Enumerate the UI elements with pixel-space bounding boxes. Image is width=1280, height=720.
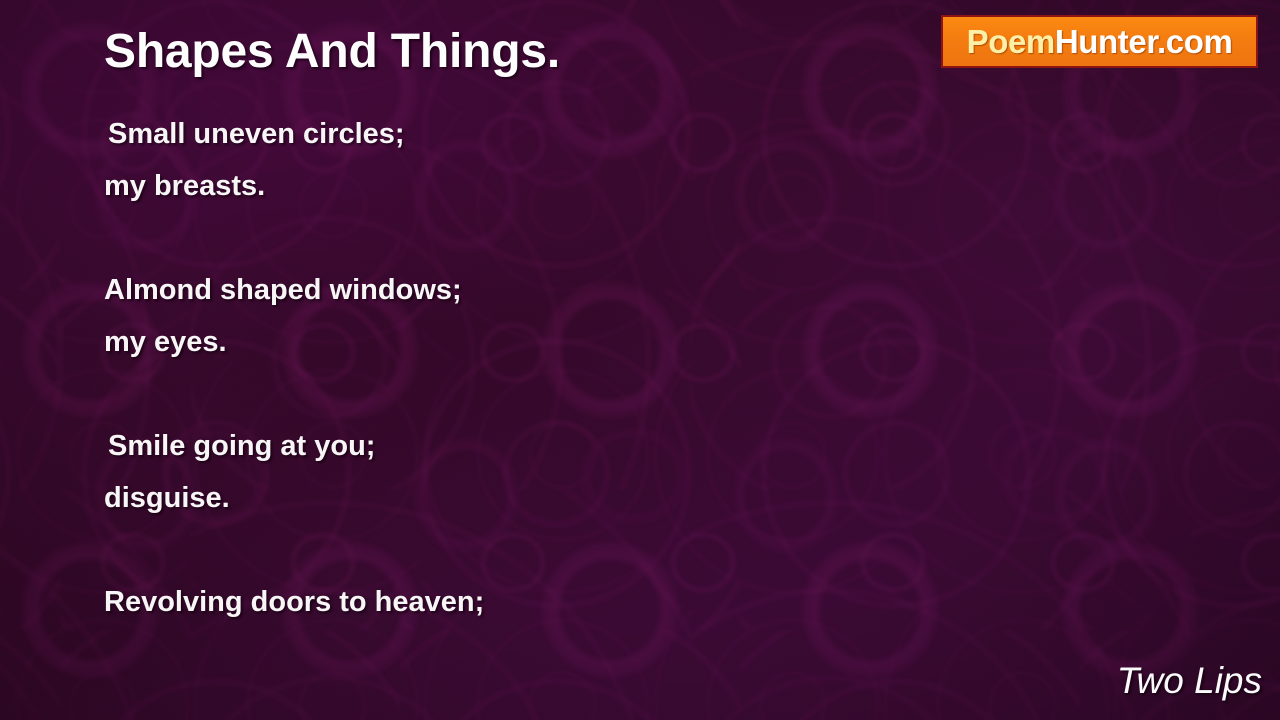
page-title: Shapes And Things. <box>104 24 560 79</box>
poem-body: Small uneven circles; my breasts. Almond… <box>104 108 904 628</box>
poem-line-blank <box>104 524 904 576</box>
poem-line: Revolving doors to heaven; <box>104 576 904 628</box>
poem-line-blank <box>104 212 904 264</box>
poem-line: disguise. <box>104 472 904 524</box>
poem-slide: Shapes And Things. Small uneven circles;… <box>0 0 1280 720</box>
poemhunter-logo[interactable]: PoemHunter.com <box>941 15 1258 68</box>
poem-line: my breasts. <box>104 160 904 212</box>
poem-line: Small uneven circles; <box>104 108 904 160</box>
poem-line: Almond shaped windows; <box>104 264 904 316</box>
logo-text-poem: Poem <box>967 23 1055 60</box>
poem-line: Smile going at you; <box>104 420 904 472</box>
poem-line-blank <box>104 368 904 420</box>
poem-line: my eyes. <box>104 316 904 368</box>
author-signature: Two Lips <box>1117 660 1262 702</box>
logo-text-hunter: Hunter.com <box>1055 23 1233 60</box>
